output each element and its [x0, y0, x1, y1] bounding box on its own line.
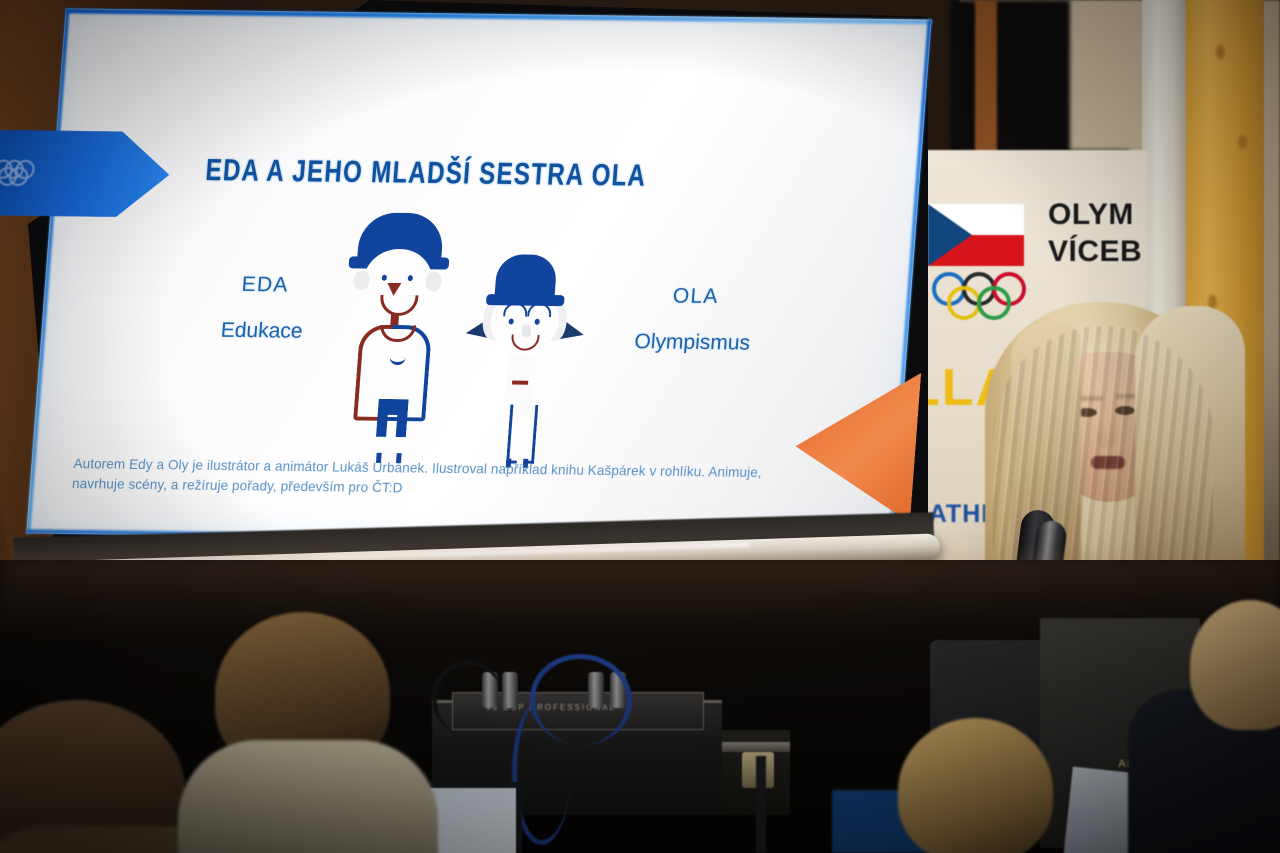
projected-slide: EDA A JEHO MLADŠÍ SESTRA OLA EDA Edukace… — [26, 8, 931, 544]
mascot-label-ola: OLA Olympismus — [596, 284, 791, 356]
mascot-label-eda: EDA Edukace — [181, 272, 346, 344]
mascot-name-eda: EDA — [184, 272, 346, 298]
czech-flag-icon — [928, 204, 1024, 266]
wood-frame-edge — [975, 0, 997, 160]
mascot-ola-illustration — [450, 254, 591, 471]
ola-hat-brim — [486, 294, 565, 306]
mascot-meaning-ola: Olympismus — [596, 330, 788, 356]
mic-stand — [756, 756, 766, 853]
banner-line-2: VÍCEB — [1048, 235, 1142, 269]
eda-ear-right — [425, 271, 443, 291]
mascot-meaning-eda: Edukace — [181, 318, 343, 344]
audience-shoulders — [178, 740, 438, 853]
ola-belt — [512, 381, 528, 385]
presentation-photo: OLYM VÍCEB LLA ECATHLON Č sp llianz EDA … — [0, 0, 1280, 853]
mascot-name-ola: OLA — [600, 284, 792, 310]
audience-head — [898, 718, 1053, 853]
slide-title: EDA A JEHO MLADŠÍ SESTRA OLA — [204, 153, 647, 194]
banner-line-1: OLYM — [1048, 198, 1134, 232]
mascot-eda-illustration — [320, 212, 469, 464]
far-dark-opening — [950, 0, 1070, 170]
xlr-connector — [502, 672, 518, 708]
